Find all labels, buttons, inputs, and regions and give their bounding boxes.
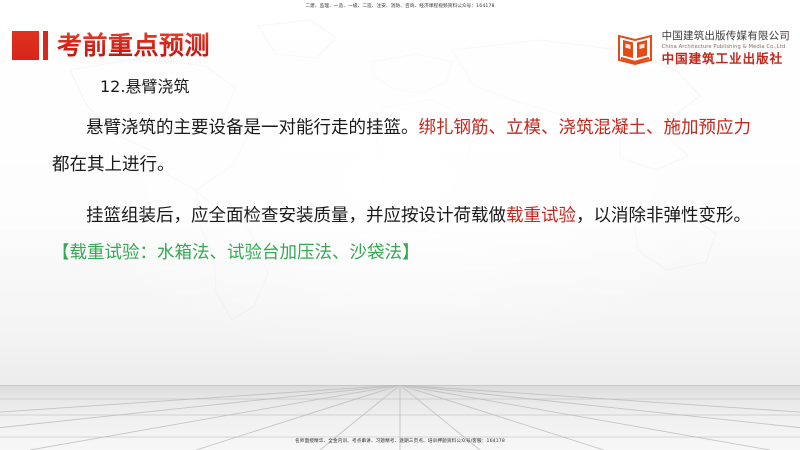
para1-segment-black-2: 都在其上进行。 xyxy=(52,155,175,175)
china-architecture-press-emblem-icon xyxy=(615,28,655,68)
para2-segment-black-1: 挂篮组装后，应全面检查安装质量，并应按设计荷载做 xyxy=(86,206,506,226)
content-heading: 12.悬臂浇筑 xyxy=(100,72,762,102)
para1-segment-red: 绑扎钢筋、立模、浇筑混凝土、施加预应力 xyxy=(419,118,752,138)
para2-segment-black-2: ，以消除非弹性变形。 xyxy=(576,206,751,226)
para2-segment-red: 载重试验 xyxy=(506,206,576,226)
logo-company-en: China Architecture Publishing & Media Co… xyxy=(662,43,790,51)
content-paragraph-2: 挂篮组装后，应全面检查安装质量，并应按设计荷载做载重试验，以消除非弹性变形。【载… xyxy=(52,198,762,272)
title-red-bar xyxy=(43,31,48,60)
content-paragraph-1: 悬臂浇筑的主要设备是一对能行走的挂篮。绑扎钢筋、立模、浇筑混凝土、施加预应力都在… xyxy=(52,110,762,184)
logo-company-cn: 中国建筑出版传媒有限公司 xyxy=(662,30,790,43)
page-title: 考前重点预测 xyxy=(57,31,210,60)
top-watermark-note: 二建、监理、一造、一级、二造、注安、消防、咨询、经济课程视频资料公众号：1641… xyxy=(0,3,800,10)
para1-segment-black-1: 悬臂浇筑的主要设备是一对能行走的挂篮。 xyxy=(86,118,419,138)
slide-content: 12.悬臂浇筑 悬臂浇筑的主要设备是一对能行走的挂篮。绑扎钢筋、立模、浇筑混凝土… xyxy=(52,72,762,272)
logo-text-block: 中国建筑出版传媒有限公司 China Architecture Publishi… xyxy=(662,30,790,66)
logo-press-cn: 中国建筑工业出版社 xyxy=(662,51,790,66)
bottom-watermark-note: 名师面授精华、全金内训、考点串讲、习题精考、逐期三页点、培训押题资料公众号/客服… xyxy=(0,438,800,445)
slide-canvas: 二建、监理、一造、一级、二造、注安、消防、咨询、经济课程视频资料公众号：1641… xyxy=(0,0,800,450)
slide-title-group: 考前重点预测 xyxy=(12,28,210,62)
publisher-logo: 中国建筑出版传媒有限公司 China Architecture Publishi… xyxy=(615,28,790,68)
title-red-block xyxy=(12,31,39,60)
para2-segment-green: 【载重试验：水箱法、试验台加压法、沙袋法】 xyxy=(52,243,420,263)
